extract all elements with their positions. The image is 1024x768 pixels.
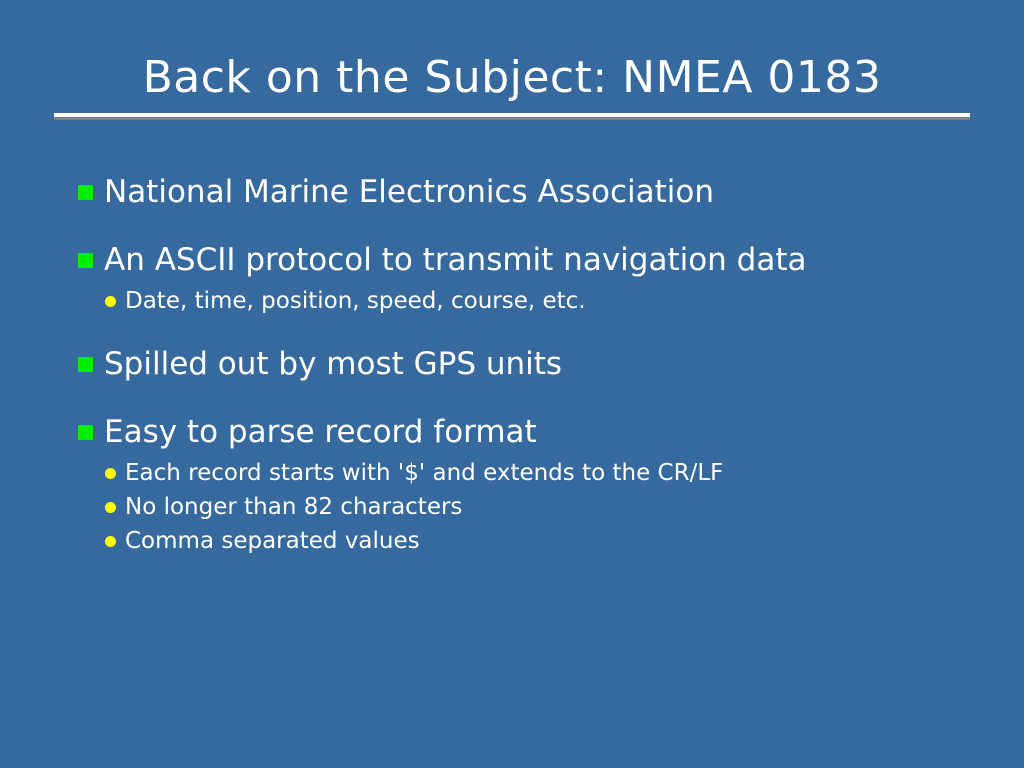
bullet-level2-label: Date, time, position, speed, course, etc…	[125, 284, 586, 318]
square-bullet-icon	[78, 185, 93, 200]
slide-body: National Marine Electronics Association …	[78, 170, 978, 558]
bullet-level2-label: Comma separated values	[125, 524, 420, 558]
bullet-group: An ASCII protocol to transmit navigation…	[78, 238, 978, 318]
square-bullet-icon	[78, 357, 93, 372]
bullet-group: Spilled out by most GPS units	[78, 342, 978, 386]
bullet-level2-label: Each record starts with '$' and extends …	[125, 456, 723, 490]
bullet-sublist: Each record starts with '$' and extends …	[78, 456, 978, 558]
bullet-item-level2: Comma separated values	[105, 524, 978, 558]
bullet-item-level1: National Marine Electronics Association	[78, 170, 978, 214]
square-bullet-icon	[78, 425, 93, 440]
dot-bullet-icon	[105, 502, 116, 513]
dot-bullet-icon	[105, 536, 116, 547]
bullet-level1-label: Spilled out by most GPS units	[104, 342, 562, 386]
bullet-item-level2: Date, time, position, speed, course, etc…	[105, 284, 978, 318]
bullet-level1-label: National Marine Electronics Association	[104, 170, 714, 214]
bullet-item-level2: Each record starts with '$' and extends …	[105, 456, 978, 490]
dot-bullet-icon	[105, 296, 116, 307]
bullet-group: Easy to parse record format Each record …	[78, 410, 978, 558]
bullet-item-level2: No longer than 82 characters	[105, 490, 978, 524]
title-divider-shadow	[54, 117, 970, 120]
slide-title-block: Back on the Subject: NMEA 0183	[0, 50, 1024, 106]
bullet-item-level1: Spilled out by most GPS units	[78, 342, 978, 386]
bullet-group: National Marine Electronics Association	[78, 170, 978, 214]
square-bullet-icon	[78, 253, 93, 268]
bullet-item-level1: Easy to parse record format	[78, 410, 978, 454]
bullet-level1-label: Easy to parse record format	[104, 410, 537, 454]
title-divider	[54, 113, 970, 120]
bullet-level1-label: An ASCII protocol to transmit navigation…	[104, 238, 807, 282]
bullet-level2-label: No longer than 82 characters	[125, 490, 462, 524]
page-title: Back on the Subject: NMEA 0183	[0, 50, 1024, 106]
presentation-slide: Back on the Subject: NMEA 0183 National …	[0, 0, 1024, 768]
bullet-item-level1: An ASCII protocol to transmit navigation…	[78, 238, 978, 282]
bullet-sublist: Date, time, position, speed, course, etc…	[78, 284, 978, 318]
dot-bullet-icon	[105, 468, 116, 479]
